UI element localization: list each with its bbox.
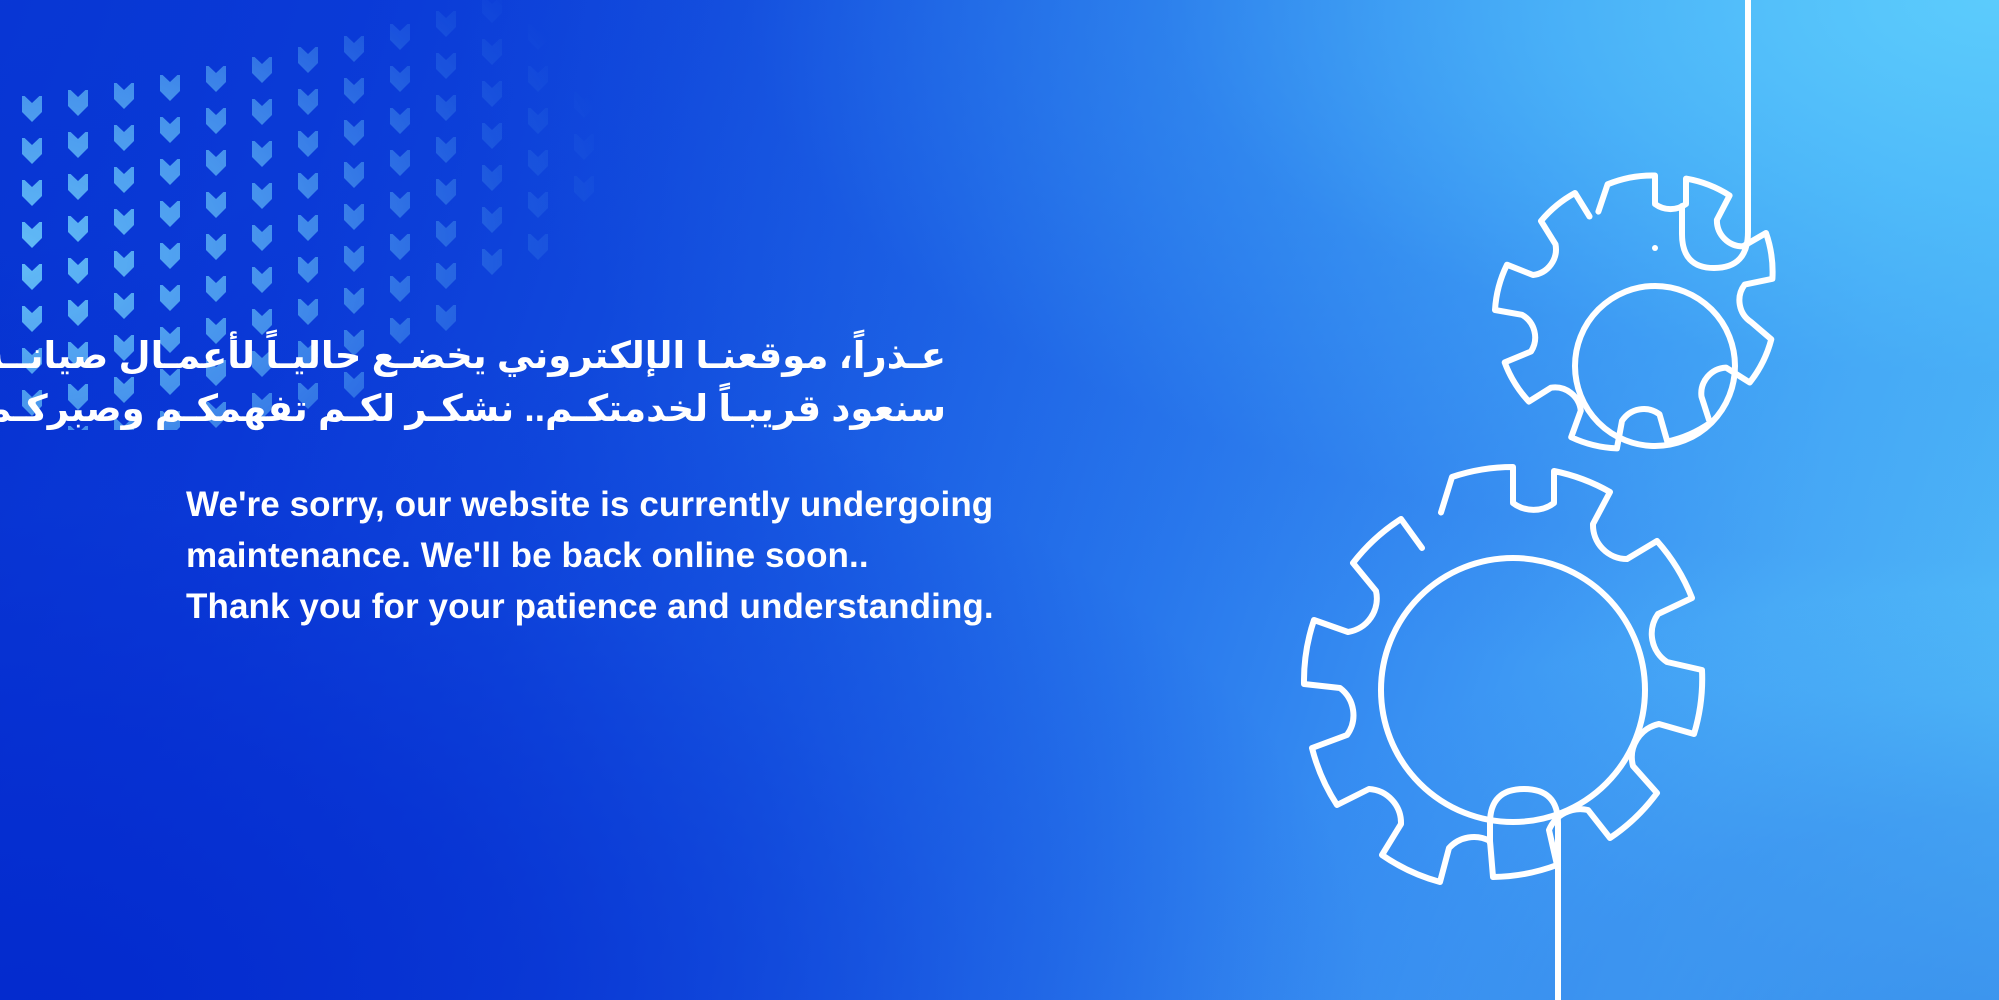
arabic-line-1: عـذراً، موقعنـا الإلكتروني يخضـع حاليـاً…	[186, 330, 946, 383]
arabic-line-2: سنعود قريبـاً لخدمتكـم.. نشكـر لكـم تفهم…	[186, 383, 946, 436]
maintenance-page: عـذراً، موقعنـا الإلكتروني يخضـع حاليـاً…	[0, 0, 1999, 1000]
english-message: We're sorry, our website is currently un…	[186, 435, 1186, 632]
english-line-3: Thank you for your patience and understa…	[186, 581, 1186, 632]
english-line-2: maintenance. We'll be back online soon..	[186, 530, 1186, 581]
arabic-message: عـذراً، موقعنـا الإلكتروني يخضـع حاليـاً…	[186, 330, 946, 435]
maintenance-message: عـذراً، موقعنـا الإلكتروني يخضـع حاليـاً…	[186, 330, 1186, 632]
english-line-1: We're sorry, our website is currently un…	[186, 479, 1186, 530]
